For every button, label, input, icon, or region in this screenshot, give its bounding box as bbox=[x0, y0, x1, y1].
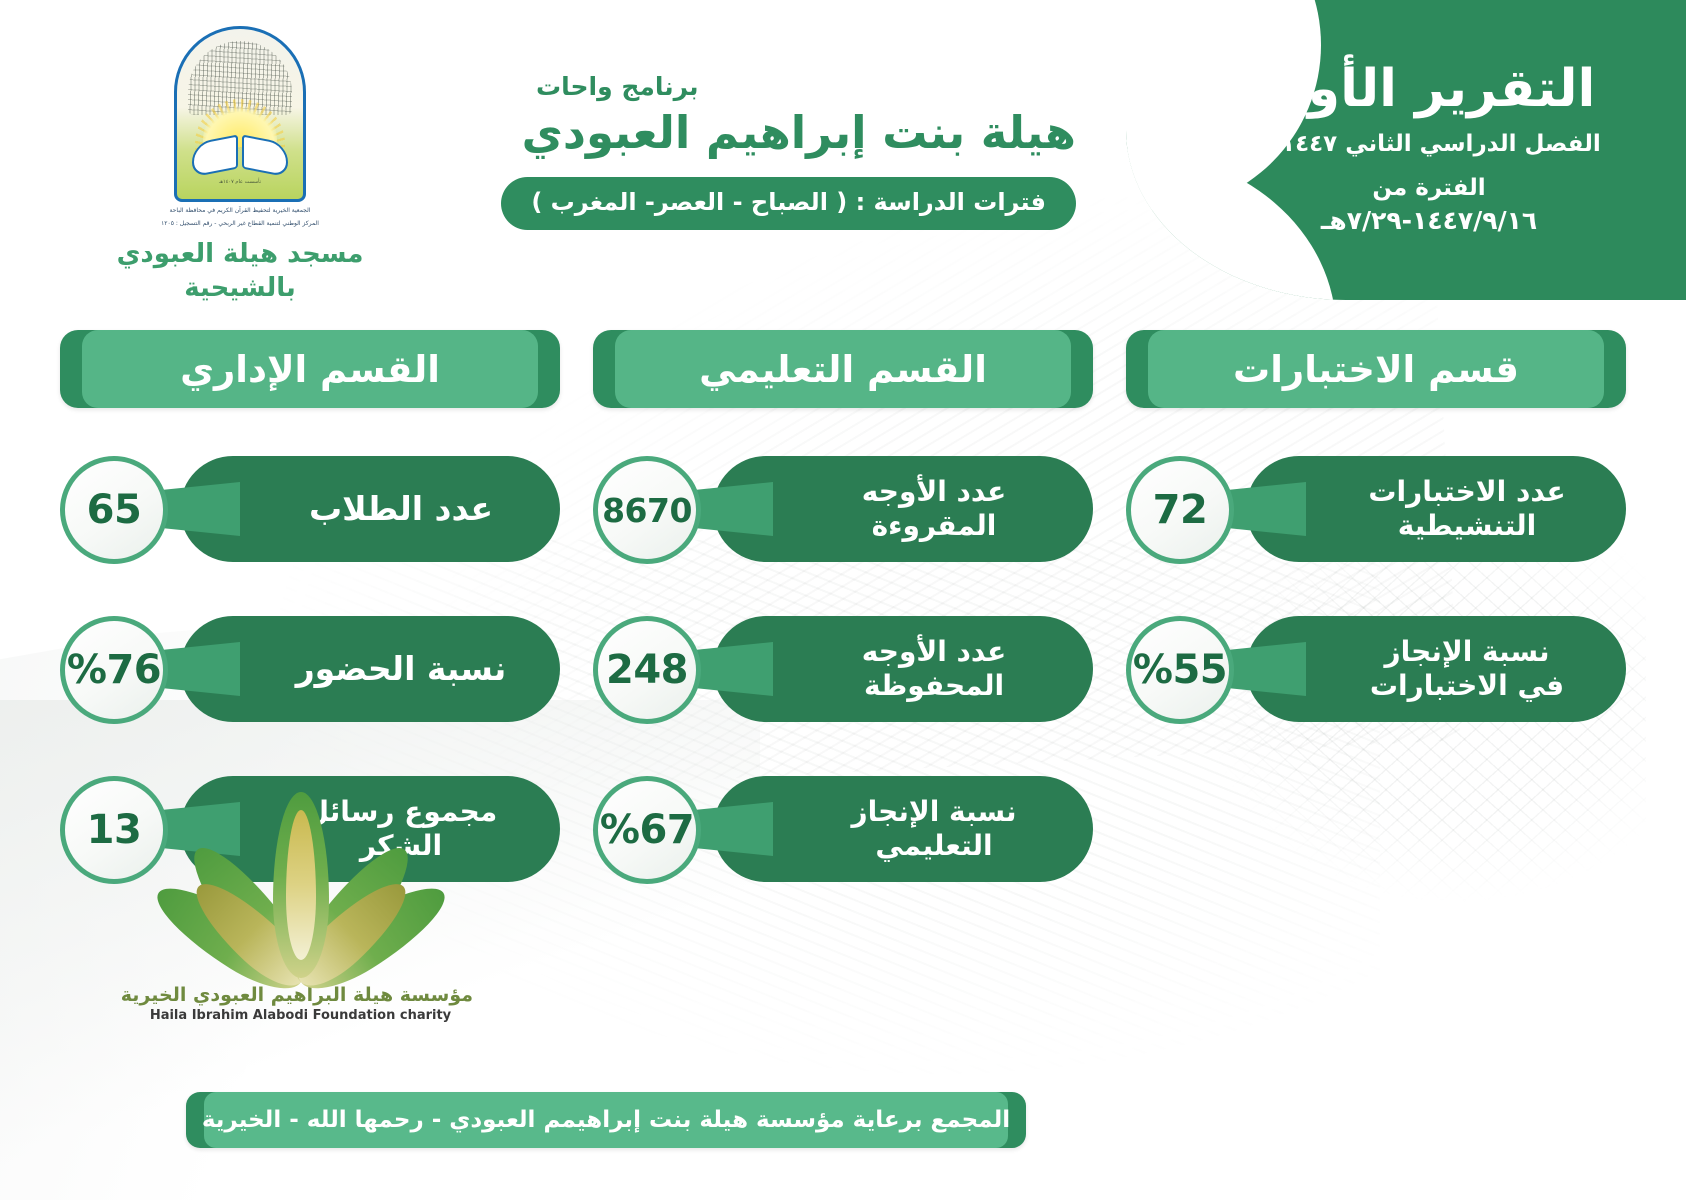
stat-value: 13 bbox=[87, 807, 142, 853]
stat-value-circle: %55 bbox=[1126, 616, 1234, 724]
stat-item: عدد الطلاب 65 bbox=[60, 456, 560, 562]
stat-item: عدد الأوجه المقروءة 8670 bbox=[593, 456, 1093, 562]
stat-value-circle: %76 bbox=[60, 616, 168, 724]
quran-association-emblem-icon: تأسست عام ١٤٠٧هـ bbox=[174, 26, 306, 202]
stat-value-circle: 13 bbox=[60, 776, 168, 884]
stat-label-line: التنشيطية bbox=[1368, 509, 1565, 543]
stats-list-educational: عدد الأوجه المقروءة 8670 عدد الأوجه المح… bbox=[593, 456, 1093, 882]
section-heading-label: القسم التعليمي bbox=[699, 348, 987, 391]
stat-label-line: نسبة الحضور bbox=[296, 649, 507, 689]
stat-value: %67 bbox=[600, 807, 694, 853]
section-heading-educational: القسم التعليمي bbox=[593, 330, 1093, 408]
report-title: التقرير الأول bbox=[1263, 62, 1596, 117]
stat-value: 8670 bbox=[602, 491, 692, 530]
stat-label-line: عدد الطلاب bbox=[309, 489, 493, 529]
report-header-blob: التقرير الأول الفصل الدراسي الثاني ١٤٤٧ه… bbox=[1126, 0, 1686, 300]
sponsor-footer-text: المجمع برعاية مؤسسة هيلة بنت إبراهيمم ال… bbox=[202, 1107, 1010, 1133]
program-name: هيلة بنت إبراهيم العبودي bbox=[536, 105, 1076, 161]
stat-label-line: عدد الأوجه المحفوظة bbox=[809, 635, 1059, 703]
stat-value-circle: %67 bbox=[593, 776, 701, 884]
stat-value: 248 bbox=[606, 647, 688, 693]
stat-label-line: في الاختبارات bbox=[1370, 669, 1564, 703]
stat-item: نسبة الإنجاز في الاختبارات %55 bbox=[1126, 616, 1626, 722]
open-book-icon bbox=[192, 133, 288, 173]
center-leaf-icon bbox=[273, 792, 329, 978]
stat-value: 72 bbox=[1153, 487, 1208, 533]
foundation-name-english: Haila Ibrahim Alabodi Foundation charity bbox=[128, 1008, 473, 1023]
section-educational: القسم التعليمي عدد الأوجه المقروءة 8670 … bbox=[593, 330, 1093, 882]
stat-value: %76 bbox=[67, 647, 161, 693]
section-exams: قسم الاختبارات عدد الاختبارات التنشيطية … bbox=[1126, 330, 1626, 882]
stat-item: نسبة الحضور %76 bbox=[60, 616, 560, 722]
mosque-name-line2: بالشيحية bbox=[90, 272, 390, 306]
stat-item: نسبة الإنجاز التعليمي %67 bbox=[593, 776, 1093, 882]
sponsor-footer-banner: المجمع برعاية مؤسسة هيلة بنت إبراهيمم ال… bbox=[186, 1092, 1026, 1148]
foundation-logo: مؤسسة هيلة البراهيم العبودي الخيرية Hail… bbox=[128, 782, 473, 1023]
stat-value-circle: 8670 bbox=[593, 456, 701, 564]
stats-list-exams: عدد الاختبارات التنشيطية 72 نسبة الإنجاز… bbox=[1126, 456, 1626, 722]
stat-item: عدد الاختبارات التنشيطية 72 bbox=[1126, 456, 1626, 562]
report-period-label: الفترة من bbox=[1372, 173, 1485, 204]
section-heading-administrative: القسم الإداري bbox=[60, 330, 560, 408]
stat-label-line: نسبة الإنجاز bbox=[1370, 635, 1564, 669]
study-periods-pill: فترات الدراسة : ( الصباح - العصر- المغرب… bbox=[501, 177, 1076, 230]
report-period-value: ١٤٤٧/٩/١٦-٧/٢٩هـ bbox=[1321, 204, 1537, 238]
program-subtitle: برنامج واحات bbox=[536, 72, 1076, 101]
emblem-footline: تأسست عام ١٤٠٧هـ bbox=[219, 179, 261, 185]
stat-label-line: عدد الاختبارات bbox=[1368, 475, 1565, 509]
section-heading-exams: قسم الاختبارات bbox=[1126, 330, 1626, 408]
stat-label-line: عدد الأوجه المقروءة bbox=[809, 475, 1059, 543]
mosque-name-line1: مسجد هيلة العبودي bbox=[90, 238, 390, 272]
section-heading-label: قسم الاختبارات bbox=[1233, 348, 1519, 391]
stat-value-circle: 248 bbox=[593, 616, 701, 724]
foundation-name-arabic: مؤسسة هيلة البراهيم العبودي الخيرية bbox=[128, 984, 473, 1006]
stat-item: عدد الأوجه المحفوظة 248 bbox=[593, 616, 1093, 722]
stat-value-circle: 65 bbox=[60, 456, 168, 564]
emblem-caption-line2: المركز الوطني لتنمية القطاع غير الربحي -… bbox=[90, 219, 390, 228]
section-heading-label: القسم الإداري bbox=[180, 348, 440, 391]
emblem-caption-line1: الجمعية الخيرية لتحفيظ القرآن الكريم في … bbox=[90, 206, 390, 215]
report-term: الفصل الدراسي الثاني ١٤٤٧هـ bbox=[1257, 131, 1601, 157]
lotus-leaves-icon bbox=[151, 782, 451, 982]
mosque-logo: تأسست عام ١٤٠٧هـ الجمعية الخيرية لتحفيظ … bbox=[90, 26, 390, 306]
program-title-block: برنامج واحات هيلة بنت إبراهيم العبودي فت… bbox=[536, 72, 1076, 230]
stat-value-circle: 72 bbox=[1126, 456, 1234, 564]
stat-value: %55 bbox=[1133, 647, 1227, 693]
stat-value: 65 bbox=[87, 487, 142, 533]
stat-label-line: نسبة الإنجاز التعليمي bbox=[809, 795, 1059, 863]
